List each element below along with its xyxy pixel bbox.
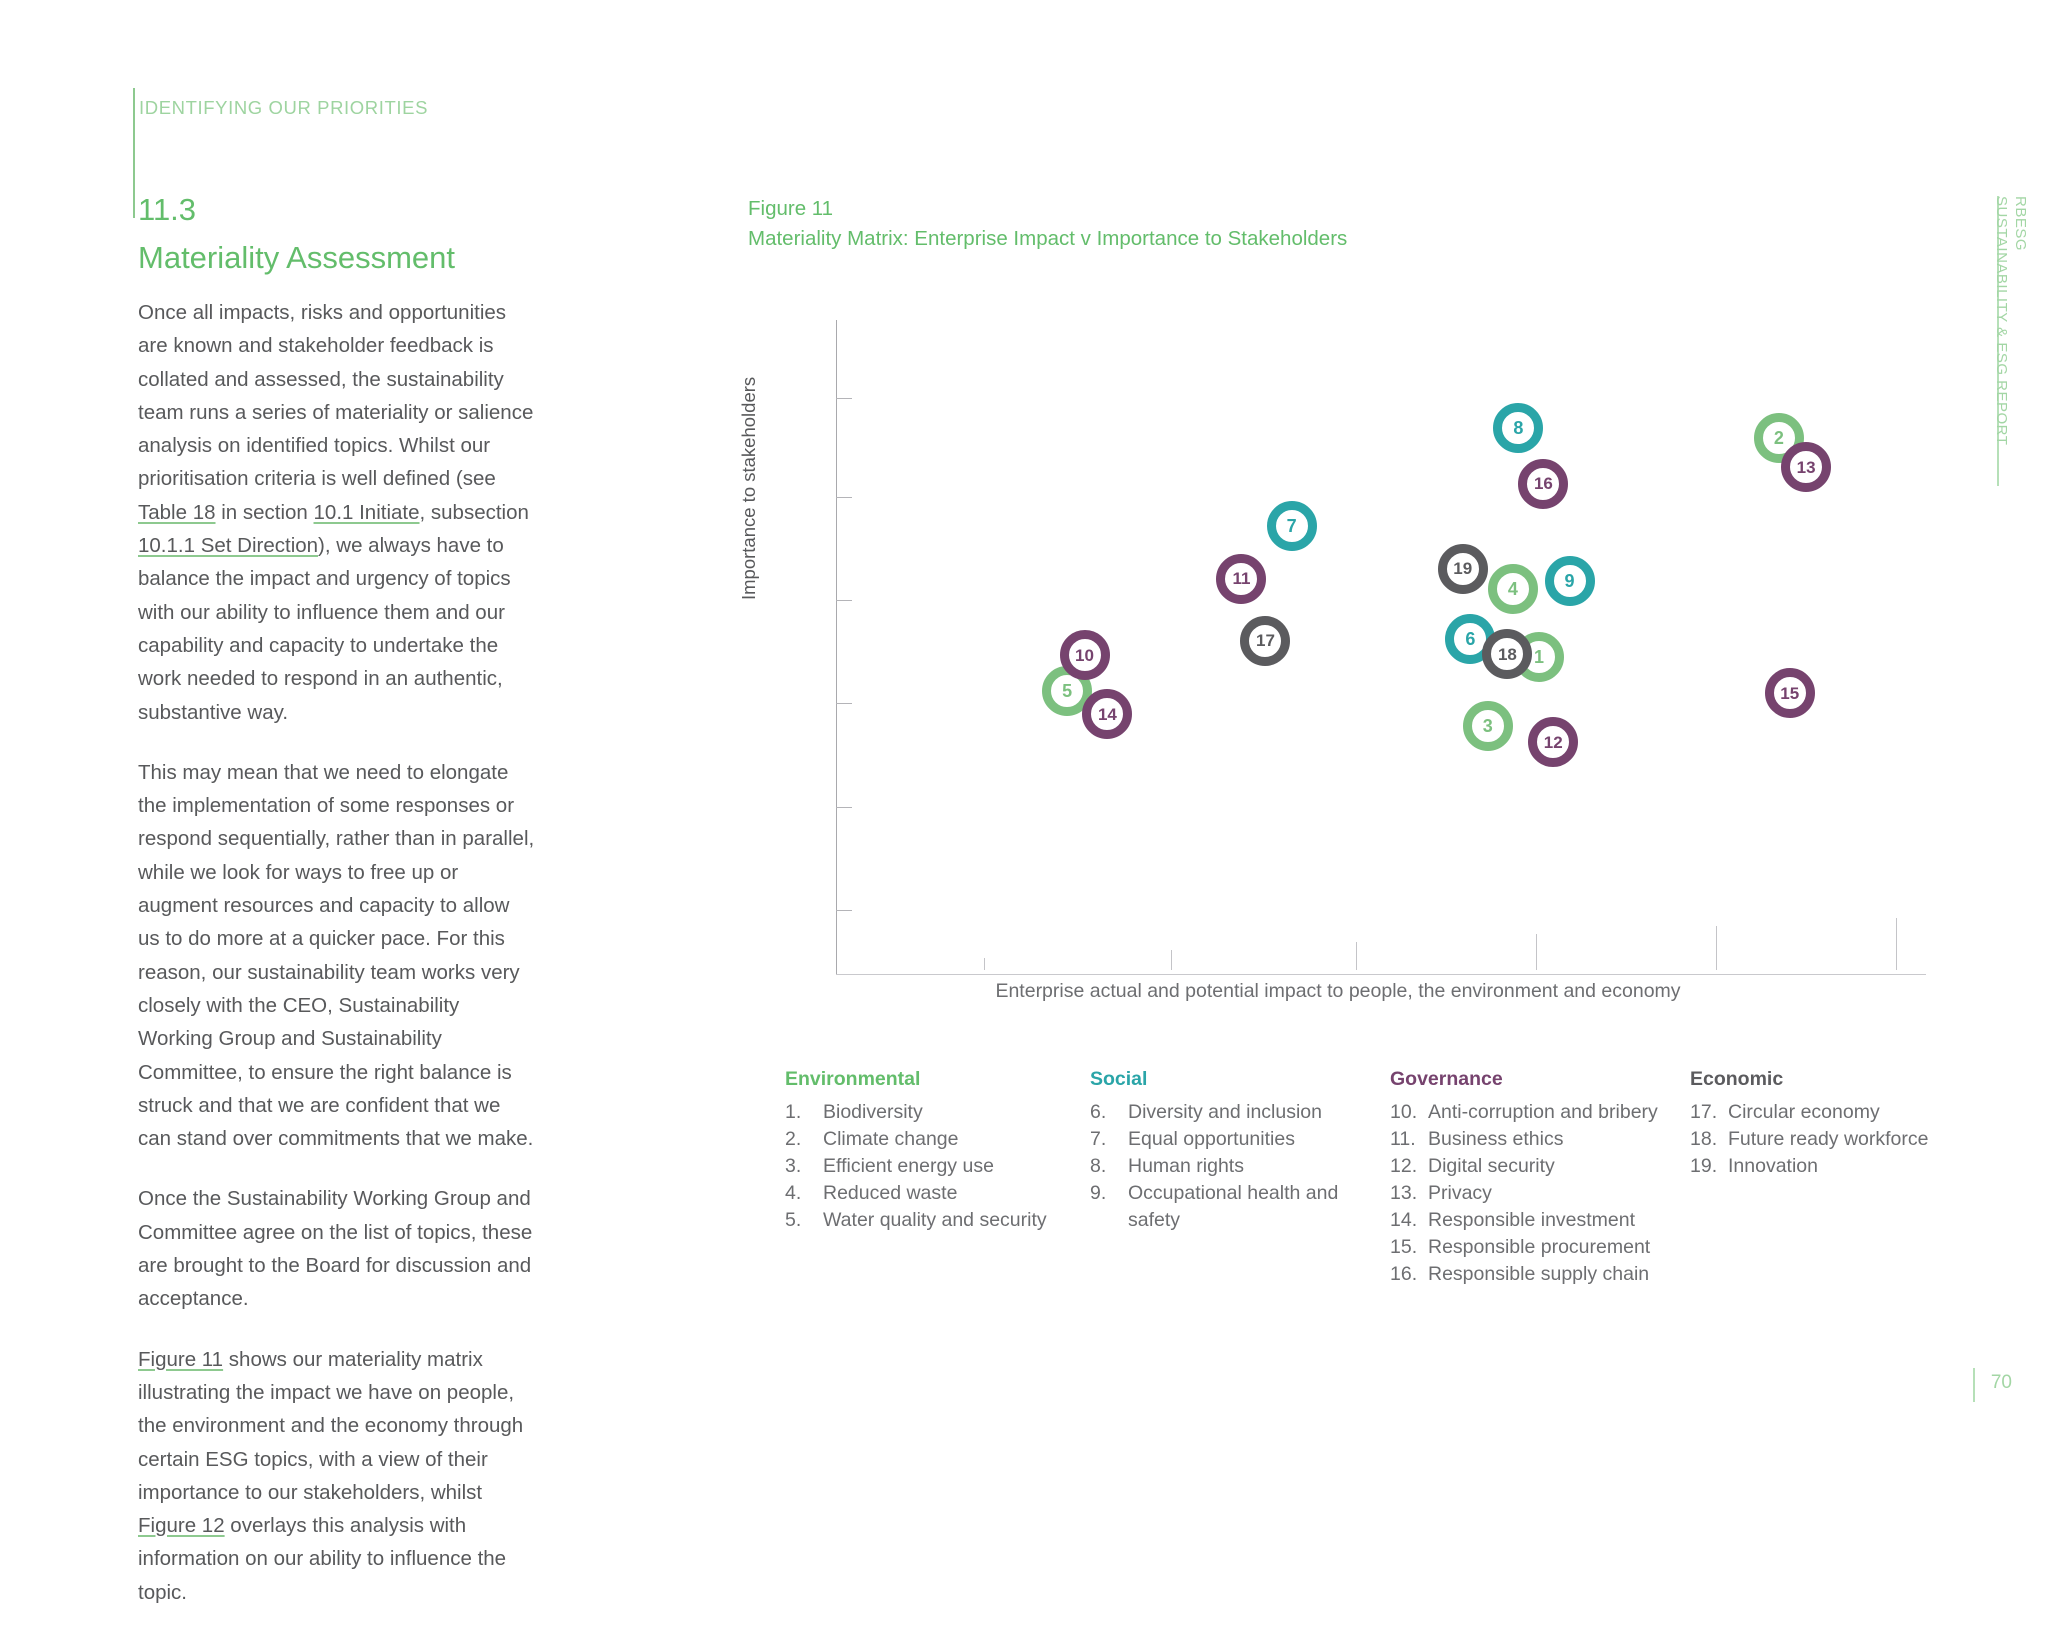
legend-item-number: 17. bbox=[1690, 1099, 1728, 1126]
legend-item: 10.Anti-corruption and bribery bbox=[1390, 1099, 1690, 1126]
legend-item-number: 4. bbox=[785, 1180, 823, 1207]
materiality-matrix-chart: Importance to stakeholders 1234567891011… bbox=[748, 300, 1928, 960]
legend-item-number: 8. bbox=[1090, 1153, 1128, 1180]
legend-item-label: Innovation bbox=[1728, 1153, 1945, 1180]
bubble-label: 8 bbox=[1513, 419, 1523, 437]
bubble-label: 15 bbox=[1780, 685, 1799, 702]
x-axis-tick bbox=[1896, 918, 1897, 970]
bubble-label: 9 bbox=[1565, 572, 1575, 590]
legend-item-label: Circular economy bbox=[1728, 1099, 1945, 1126]
legend-item-number: 16. bbox=[1390, 1261, 1428, 1288]
legend-column-environmental: Environmental1.Biodiversity2.Climate cha… bbox=[785, 1068, 1090, 1288]
legend-item-number: 6. bbox=[1090, 1099, 1128, 1126]
link-table-18[interactable]: Table 18 bbox=[138, 501, 216, 524]
y-axis-tick bbox=[836, 600, 852, 601]
bubble-11[interactable]: 11 bbox=[1216, 554, 1266, 604]
bubble-15[interactable]: 15 bbox=[1765, 668, 1815, 718]
y-axis-tick bbox=[836, 398, 852, 399]
bubble-7[interactable]: 7 bbox=[1267, 501, 1317, 551]
legend-item-label: Occupational health and safety bbox=[1128, 1180, 1390, 1234]
legend-item: 15.Responsible procurement bbox=[1390, 1234, 1690, 1261]
legend-item-number: 12. bbox=[1390, 1153, 1428, 1180]
legend-item: 4.Reduced waste bbox=[785, 1180, 1090, 1207]
bubble-label: 11 bbox=[1232, 570, 1250, 587]
body-copy: Once all impacts, risks and opportunitie… bbox=[138, 296, 536, 1636]
legend-item: 1.Biodiversity bbox=[785, 1099, 1090, 1126]
link-figure-11[interactable]: Figure 11 bbox=[138, 1348, 223, 1371]
link-10-1-1-set-direction[interactable]: 10.1.1 Set Direction bbox=[138, 534, 318, 557]
legend-item-number: 2. bbox=[785, 1126, 823, 1153]
x-axis-tick bbox=[1171, 950, 1172, 970]
p1-text-b: in section bbox=[216, 501, 314, 524]
chart-legend: Environmental1.Biodiversity2.Climate cha… bbox=[785, 1068, 1945, 1288]
bubble-10[interactable]: 10 bbox=[1060, 630, 1110, 680]
p1-text-c: , subsection bbox=[420, 501, 529, 524]
y-axis-label: Importance to stakeholders bbox=[738, 377, 760, 600]
legend-item-number: 10. bbox=[1390, 1099, 1428, 1126]
plot-area: 12345678910111213141516171819 bbox=[788, 310, 1928, 970]
bubble-8[interactable]: 8 bbox=[1493, 403, 1543, 453]
legend-heading: Economic bbox=[1690, 1068, 1945, 1091]
bubble-12[interactable]: 12 bbox=[1528, 717, 1578, 767]
legend-item: 17.Circular economy bbox=[1690, 1099, 1945, 1126]
figure-label: Figure 11 bbox=[748, 194, 1347, 224]
legend-item-number: 19. bbox=[1690, 1153, 1728, 1180]
legend-item: 6.Diversity and inclusion bbox=[1090, 1099, 1390, 1126]
bubble-17[interactable]: 17 bbox=[1240, 616, 1290, 666]
legend-item-number: 5. bbox=[785, 1207, 823, 1234]
bubble-13[interactable]: 13 bbox=[1781, 442, 1831, 492]
legend-item-number: 18. bbox=[1690, 1126, 1728, 1153]
bubble-14[interactable]: 14 bbox=[1082, 689, 1132, 739]
legend-item: 2.Climate change bbox=[785, 1126, 1090, 1153]
legend-item: 11.Business ethics bbox=[1390, 1126, 1690, 1153]
legend-item-number: 7. bbox=[1090, 1126, 1128, 1153]
legend-item-label: Anti-corruption and bribery bbox=[1428, 1099, 1690, 1126]
legend-item: 16.Responsible supply chain bbox=[1390, 1261, 1690, 1288]
p1-text-a: Once all impacts, risks and opportunitie… bbox=[138, 301, 533, 490]
y-axis-tick bbox=[836, 910, 852, 911]
page-title: Materiality Assessment bbox=[138, 240, 455, 276]
bubble-label: 14 bbox=[1098, 706, 1117, 723]
legend-item-label: Responsible procurement bbox=[1428, 1234, 1690, 1261]
legend-item: 8.Human rights bbox=[1090, 1153, 1390, 1180]
legend-item-label: Equal opportunities bbox=[1128, 1126, 1390, 1153]
legend-column-governance: Governance10.Anti-corruption and bribery… bbox=[1390, 1068, 1690, 1288]
section-accent-rule bbox=[133, 88, 135, 218]
x-axis-tick bbox=[1356, 942, 1357, 970]
legend-item: 12.Digital security bbox=[1390, 1153, 1690, 1180]
bubble-label: 4 bbox=[1508, 580, 1518, 598]
legend-item-label: Climate change bbox=[823, 1126, 1090, 1153]
legend-item-number: 14. bbox=[1390, 1207, 1428, 1234]
x-axis-tick bbox=[984, 958, 985, 970]
legend-item: 13.Privacy bbox=[1390, 1180, 1690, 1207]
bubble-label: 2 bbox=[1774, 429, 1784, 447]
legend-item-number: 11. bbox=[1390, 1126, 1428, 1153]
bubble-label: 7 bbox=[1287, 517, 1297, 535]
legend-item-label: Human rights bbox=[1128, 1153, 1390, 1180]
legend-item-number: 3. bbox=[785, 1153, 823, 1180]
p1-text-d: ), we always have to balance the impact … bbox=[138, 534, 511, 723]
bubble-label: 10 bbox=[1075, 647, 1094, 664]
running-head: RBESG SUSTAINABILITY & ESG REPORT bbox=[1992, 196, 2030, 445]
bubble-label: 6 bbox=[1465, 630, 1475, 648]
legend-item: 7.Equal opportunities bbox=[1090, 1126, 1390, 1153]
section-number: 11.3 bbox=[138, 192, 196, 228]
legend-item-label: Digital security bbox=[1428, 1153, 1690, 1180]
legend-heading: Social bbox=[1090, 1068, 1390, 1091]
x-axis-label: Enterprise actual and potential impact t… bbox=[748, 980, 1928, 1003]
bubble-4[interactable]: 4 bbox=[1488, 564, 1538, 614]
page-number: 70 bbox=[1991, 1372, 2012, 1394]
figure-title: Materiality Matrix: Enterprise Impact v … bbox=[748, 224, 1347, 254]
bubble-16[interactable]: 16 bbox=[1518, 459, 1568, 509]
link-10-1-initiate[interactable]: 10.1 Initiate bbox=[314, 501, 420, 524]
bubble-3[interactable]: 3 bbox=[1463, 701, 1513, 751]
page-kicker: IDENTIFYING OUR PRIORITIES bbox=[139, 97, 428, 119]
legend-item-label: Future ready workforce bbox=[1728, 1126, 1945, 1153]
link-figure-12[interactable]: Figure 12 bbox=[138, 1514, 225, 1537]
legend-heading: Environmental bbox=[785, 1068, 1090, 1091]
legend-item: 19.Innovation bbox=[1690, 1153, 1945, 1180]
y-axis-tick bbox=[836, 497, 852, 498]
legend-heading: Governance bbox=[1390, 1068, 1690, 1091]
paragraph-1: Once all impacts, risks and opportunitie… bbox=[138, 296, 536, 729]
legend-item-label: Diversity and inclusion bbox=[1128, 1099, 1390, 1126]
paragraph-2: This may mean that we need to elongate t… bbox=[138, 756, 536, 1156]
x-axis-tick bbox=[1716, 926, 1717, 970]
y-axis-tick bbox=[836, 807, 852, 808]
bubble-label: 18 bbox=[1498, 646, 1517, 663]
legend-item-number: 13. bbox=[1390, 1180, 1428, 1207]
bubble-label: 19 bbox=[1453, 560, 1472, 577]
x-axis-tick bbox=[1536, 934, 1537, 970]
legend-item-label: Business ethics bbox=[1428, 1126, 1690, 1153]
paragraph-4: Figure 11 shows our materiality matrix i… bbox=[138, 1343, 536, 1609]
legend-item-label: Responsible supply chain bbox=[1428, 1261, 1690, 1288]
bubble-label: 12 bbox=[1544, 734, 1563, 751]
legend-item-number: 15. bbox=[1390, 1234, 1428, 1261]
bubble-9[interactable]: 9 bbox=[1545, 556, 1595, 606]
bubble-label: 13 bbox=[1797, 459, 1816, 476]
legend-column-economic: Economic17.Circular economy18.Future rea… bbox=[1690, 1068, 1945, 1288]
page-number-rule bbox=[1973, 1368, 1975, 1402]
bubble-label: 3 bbox=[1483, 717, 1493, 735]
x-axis-line bbox=[836, 974, 1926, 975]
legend-item-label: Biodiversity bbox=[823, 1099, 1090, 1126]
bubble-label: 17 bbox=[1256, 632, 1275, 649]
legend-item: 18.Future ready workforce bbox=[1690, 1126, 1945, 1153]
legend-item: 3.Efficient energy use bbox=[785, 1153, 1090, 1180]
legend-item-number: 1. bbox=[785, 1099, 823, 1126]
p4-text-a: shows our materiality matrix illustratin… bbox=[138, 1348, 523, 1504]
legend-item: 14.Responsible investment bbox=[1390, 1207, 1690, 1234]
legend-column-social: Social6.Diversity and inclusion7.Equal o… bbox=[1090, 1068, 1390, 1288]
y-axis-tick bbox=[836, 703, 852, 704]
paragraph-3: Once the Sustainability Working Group an… bbox=[138, 1182, 536, 1315]
legend-item-label: Reduced waste bbox=[823, 1180, 1090, 1207]
legend-item-number: 9. bbox=[1090, 1180, 1128, 1234]
bubble-label: 16 bbox=[1534, 475, 1553, 492]
bubble-label: 1 bbox=[1534, 648, 1544, 666]
legend-item-label: Water quality and security bbox=[823, 1207, 1090, 1234]
legend-item-label: Efficient energy use bbox=[823, 1153, 1090, 1180]
figure-caption: Figure 11 Materiality Matrix: Enterprise… bbox=[748, 194, 1347, 254]
legend-item: 9.Occupational health and safety bbox=[1090, 1180, 1390, 1234]
legend-item-label: Responsible investment bbox=[1428, 1207, 1690, 1234]
legend-item-label: Privacy bbox=[1428, 1180, 1690, 1207]
bubble-label: 5 bbox=[1062, 682, 1072, 700]
y-axis-line bbox=[836, 320, 837, 975]
legend-item: 5.Water quality and security bbox=[785, 1207, 1090, 1234]
bubble-19[interactable]: 19 bbox=[1438, 544, 1488, 594]
